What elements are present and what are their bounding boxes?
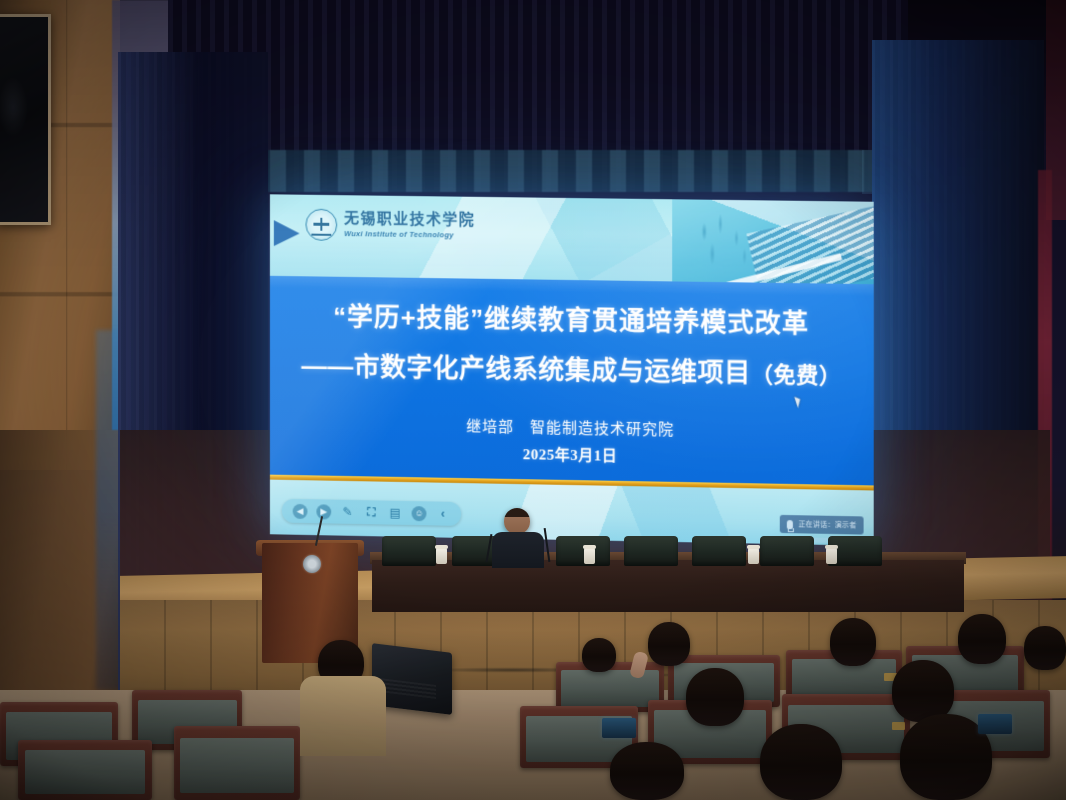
school-logo: 无锡职业技术学院 Wuxi Institute of Technology (306, 209, 476, 243)
seat (174, 726, 300, 800)
slide-body: “学历+技能”继续教育贯通培养模式改革 ——市数字化产线系统集成与运维项目（免费… (270, 276, 874, 486)
wall-monitor-screen (0, 14, 51, 225)
logo-chinese-name: 无锡职业技术学院 (344, 212, 475, 229)
presentation-slide: 无锡职业技术学院 Wuxi Institute of Technology “学… (270, 194, 874, 546)
pen-icon[interactable]: ✎ (340, 504, 355, 519)
seat-cushion (561, 670, 658, 707)
monitor-glare (0, 77, 28, 137)
collapse-chevron-icon[interactable]: ‹ (435, 506, 450, 521)
table-chair (760, 536, 814, 566)
projection-screen[interactable]: 无锡职业技术学院 Wuxi Institute of Technology “学… (270, 194, 874, 546)
water-cup (748, 548, 759, 564)
header-arrow-icon (274, 220, 300, 246)
tablet-device (602, 718, 636, 738)
slide-header-band: 无锡职业技术学院 Wuxi Institute of Technology (270, 194, 874, 284)
slide-title-free-tag: （免费） (751, 362, 842, 389)
presenter-head (504, 508, 530, 534)
audience-head (830, 618, 876, 666)
curtain-valance (168, 150, 908, 192)
speaking-status-label: 正在讲话：演示者 (798, 519, 856, 530)
table-chair (382, 536, 436, 566)
slide-date: 2025年3月1日 (523, 443, 617, 466)
audience-head (1024, 626, 1066, 670)
audience-head (892, 660, 954, 722)
seat-number-plate (892, 722, 905, 730)
auditorium-screenshot: 无锡职业技术学院 Wuxi Institute of Technology “学… (0, 0, 1066, 800)
play-icon[interactable]: ▶ (316, 504, 331, 519)
seated-presenter (492, 508, 544, 566)
water-cup (826, 548, 837, 564)
logo-english-name: Wuxi Institute of Technology (344, 229, 475, 240)
audience-head (582, 638, 616, 672)
audience-torso (300, 676, 386, 756)
mouse-cursor-icon (794, 395, 803, 408)
audience-head (648, 622, 690, 666)
campus-building-photo (672, 199, 874, 284)
tablet-device (978, 714, 1012, 734)
microphone-icon (787, 520, 793, 529)
speaking-status-badge: 正在讲话：演示者 (780, 515, 863, 535)
presentation-toolbar[interactable]: ◀ ▶ ✎ ⛶ ▤ ☺ ‹ (282, 499, 461, 526)
slide-title-line2: ——市数字化产线系统集成与运维项目（免费） (301, 346, 841, 391)
slide-title-line1: “学历+技能”继续教育贯通培养模式改革 (333, 297, 809, 341)
seat-cushion (25, 750, 146, 794)
previous-icon[interactable]: ◀ (293, 503, 308, 518)
audience-head (958, 614, 1006, 664)
water-cup (436, 548, 447, 564)
audience-head (686, 668, 744, 726)
tree-branches (686, 209, 760, 284)
head-table (372, 560, 964, 612)
audience-head-front (610, 742, 684, 800)
video-camera-icon[interactable]: ▤ (388, 505, 403, 520)
school-seal-icon (306, 209, 338, 241)
school-emblem-icon (303, 555, 321, 573)
slide-title-line2-main: ——市数字化产线系统集成与运维项目 (301, 351, 751, 388)
seat-cushion (180, 738, 293, 793)
table-chair (556, 536, 610, 566)
screenshot-icon[interactable]: ⛶ (364, 505, 379, 520)
seat (18, 740, 152, 800)
emoji-icon[interactable]: ☺ (412, 506, 427, 521)
table-chair (692, 536, 746, 566)
right-red-drape-upper (1046, 0, 1066, 220)
audience-head-front (760, 724, 842, 800)
table-chair (624, 536, 678, 566)
water-cup (584, 548, 595, 564)
slide-subtitle: 继培部 智能制造技术研究院 (466, 415, 674, 440)
presenter-torso (492, 532, 544, 568)
